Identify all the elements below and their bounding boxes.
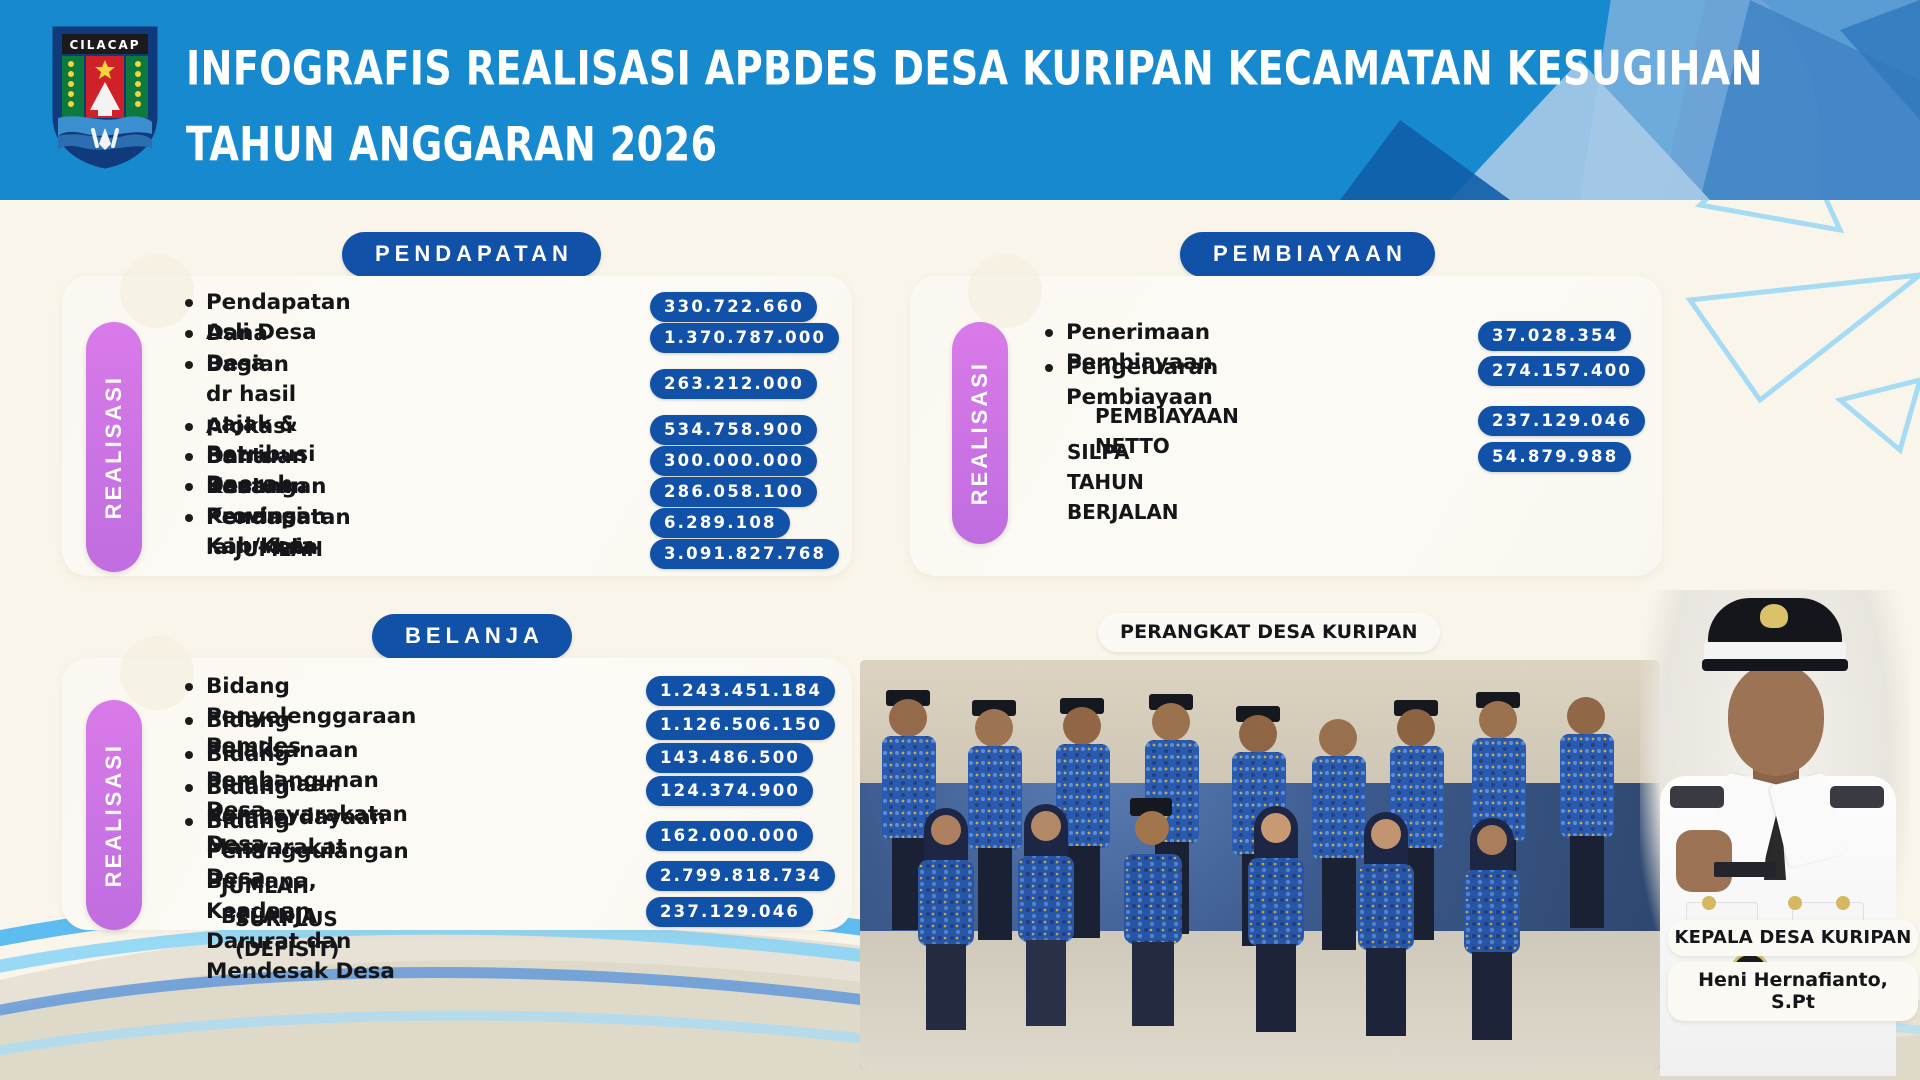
bullet-icon bbox=[185, 717, 193, 725]
card-notch bbox=[120, 254, 194, 328]
name-badge bbox=[1714, 862, 1776, 877]
value-bantuan-keuangan-kabkota: 286.058.100 bbox=[650, 477, 817, 507]
bullet-icon bbox=[185, 683, 193, 691]
bullet-icon bbox=[1045, 364, 1053, 372]
value-alokasi-dana-desa: 534.758.900 bbox=[650, 415, 817, 445]
cap-garuda-emblem-icon bbox=[1760, 604, 1788, 628]
card-notch bbox=[120, 636, 194, 710]
cap-band bbox=[1704, 642, 1846, 660]
row-label: JUMLAH bbox=[235, 534, 323, 564]
side-tab-label: REALISASI bbox=[967, 361, 993, 505]
row-surplus-defisit: SURPLUS (DEFISIT) bbox=[185, 904, 339, 964]
page-header: CILACAP INFOGRAFIS REALISASI APBDES DESA… bbox=[0, 0, 1920, 200]
bullet-icon bbox=[185, 751, 193, 759]
staff-figures bbox=[860, 660, 1660, 1070]
bullet-icon bbox=[185, 423, 193, 431]
raised-fist bbox=[1676, 830, 1732, 892]
row-silpa-tahun-berjalan: SILPA TAHUN BERJALAN bbox=[1045, 437, 1178, 527]
bullet-icon bbox=[185, 299, 193, 307]
side-tab-realisasi-pembiayaan: REALISASI bbox=[952, 322, 1008, 544]
section-title-pembiayaan: PEMBIAYAAN bbox=[1180, 232, 1435, 277]
section-title-belanja: BELANJA bbox=[372, 614, 572, 659]
svg-text:CILACAP: CILACAP bbox=[69, 38, 140, 52]
value-bidang-penanggulangan-bencana: 162.000.000 bbox=[646, 821, 813, 851]
side-tab-label: REALISASI bbox=[101, 743, 127, 887]
value-silpa-tahun-berjalan: 54.879.988 bbox=[1478, 442, 1631, 472]
bullet-icon bbox=[185, 361, 193, 369]
value-bantuan-keuangan-provinsi: 300.000.000 bbox=[650, 446, 817, 476]
face bbox=[1728, 664, 1824, 776]
side-tab-realisasi-belanja: REALISASI bbox=[86, 700, 142, 930]
section-title-pendapatan: PENDAPATAN bbox=[342, 232, 601, 277]
kades-role-label: KEPALA DESA KURIPAN bbox=[1668, 920, 1918, 956]
value-surplus-defisit: 237.129.046 bbox=[646, 897, 813, 927]
value-bagian-hasil-pajak: 263.212.000 bbox=[650, 369, 817, 399]
value-jumlah-belanja: 2.799.818.734 bbox=[646, 861, 835, 891]
cap-brim bbox=[1702, 659, 1848, 671]
page-title-line-1: INFOGRAFIS REALISASI APBDES DESA KURIPAN… bbox=[186, 24, 1488, 112]
bullet-icon bbox=[185, 483, 193, 491]
button-left bbox=[1702, 896, 1716, 910]
card-notch bbox=[968, 254, 1042, 328]
epaulet-right bbox=[1830, 786, 1884, 808]
bullet-icon bbox=[185, 514, 193, 522]
value-bidang-pembinaan-kemasyarakatan-desa: 143.486.500 bbox=[646, 743, 813, 773]
row-pendapatan-jumlah: JUMLAH bbox=[185, 534, 323, 564]
bullet-icon bbox=[185, 453, 193, 461]
value-bidang-penyelenggaraan-pemdes: 1.243.451.184 bbox=[646, 676, 835, 706]
value-dana-desa: 1.370.787.000 bbox=[650, 323, 839, 353]
value-pendapatan-lain-lain: 6.289.108 bbox=[650, 508, 790, 538]
value-penerimaan-pembiayaan: 37.028.354 bbox=[1478, 321, 1631, 351]
side-tab-label: REALISASI bbox=[101, 375, 127, 519]
bullet-icon bbox=[185, 784, 193, 792]
page-title-line-2: TAHUN ANGGARAN 2026 bbox=[186, 100, 1488, 188]
header-title-block: INFOGRAFIS REALISASI APBDES DESA KURIPAN… bbox=[186, 24, 1586, 176]
bullet-icon bbox=[185, 818, 193, 826]
label-perangkat-desa: PERANGKAT DESA KURIPAN bbox=[1098, 613, 1440, 652]
epaulet-left bbox=[1670, 786, 1724, 808]
value-bidang-pemberdayaan-masyarakat-desa: 124.374.900 bbox=[646, 776, 813, 806]
value-pendapatan-jumlah: 3.091.827.768 bbox=[650, 539, 839, 569]
village-staff-group-photo bbox=[860, 660, 1660, 1070]
value-bidang-pelaksanaan-pembangunan-desa: 1.126.506.150 bbox=[646, 710, 835, 740]
kades-name-label: Heni Hernafianto, S.Pt bbox=[1668, 962, 1918, 1021]
value-pendapatan-asli-desa: 330.722.660 bbox=[650, 292, 817, 322]
side-tab-realisasi-pendapatan: REALISASI bbox=[86, 322, 142, 572]
button-center-upper bbox=[1788, 896, 1802, 910]
bullet-icon bbox=[1045, 329, 1053, 337]
cilacap-emblem-icon: CILACAP bbox=[50, 24, 160, 170]
button-right bbox=[1836, 896, 1850, 910]
value-pembiayaan-netto: 237.129.046 bbox=[1478, 406, 1645, 436]
value-pengeluaran-pembiayaan: 274.157.400 bbox=[1478, 356, 1645, 386]
row-label: SILPA TAHUN BERJALAN bbox=[1067, 437, 1178, 527]
bullet-icon bbox=[185, 330, 193, 338]
row-label: SURPLUS (DEFISIT) bbox=[235, 904, 339, 964]
